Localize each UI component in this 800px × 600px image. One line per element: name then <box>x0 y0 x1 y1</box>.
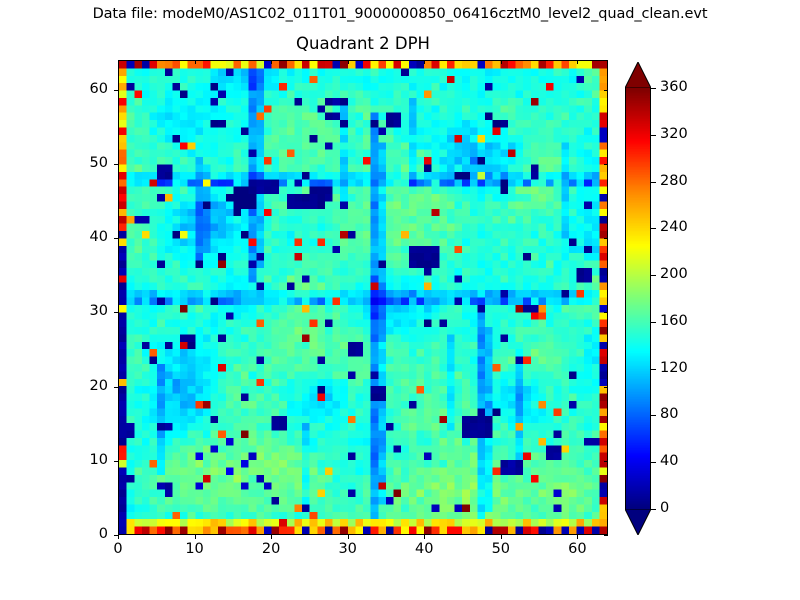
y-tick-mark-right <box>604 90 608 91</box>
y-tick-mark <box>114 312 118 313</box>
colorbar-tick-mark <box>651 369 656 370</box>
y-tick-mark-right <box>604 164 608 165</box>
x-tick-mark-top <box>348 60 349 64</box>
colorbar-tick-label: 240 <box>660 219 688 235</box>
y-tick-label: 60 <box>68 81 108 97</box>
x-tick-label: 0 <box>98 541 138 557</box>
y-tick-mark-right <box>604 387 608 388</box>
colorbar-tick-mark <box>651 228 656 229</box>
y-tick-label: 50 <box>68 155 108 171</box>
colorbar-tick-label: 320 <box>660 126 688 142</box>
x-tick-mark <box>501 535 502 539</box>
x-tick-label: 30 <box>328 541 368 557</box>
y-tick-mark <box>114 238 118 239</box>
y-tick-label: 10 <box>68 452 108 468</box>
x-tick-label: 60 <box>557 541 597 557</box>
colorbar-tick-label: 280 <box>660 173 688 189</box>
x-tick-label: 50 <box>481 541 521 557</box>
y-tick-label: 40 <box>68 229 108 245</box>
colorbar-tick-label: 160 <box>660 313 688 329</box>
y-tick-mark <box>114 164 118 165</box>
y-tick-mark-right <box>604 535 608 536</box>
x-tick-mark-top <box>271 60 272 64</box>
colorbar-tick-mark <box>651 322 656 323</box>
x-tick-mark <box>195 535 196 539</box>
y-tick-mark-right <box>604 461 608 462</box>
y-tick-label: 30 <box>68 303 108 319</box>
colorbar <box>625 62 651 535</box>
colorbar-tick-mark <box>651 135 656 136</box>
colorbar-under-arrow-icon <box>625 509 651 535</box>
colorbar-tick-mark <box>651 182 656 183</box>
x-tick-mark-top <box>118 60 119 64</box>
colorbar-tick-mark <box>651 415 656 416</box>
x-tick-mark <box>271 535 272 539</box>
colorbar-tick-mark <box>651 509 656 510</box>
y-tick-mark <box>114 535 118 536</box>
y-tick-label: 0 <box>68 526 108 542</box>
colorbar-tick-label: 0 <box>660 500 669 516</box>
x-tick-label: 20 <box>251 541 291 557</box>
x-tick-mark-top <box>195 60 196 64</box>
y-tick-mark-right <box>604 238 608 239</box>
y-tick-mark <box>114 90 118 91</box>
colorbar-tick-mark <box>651 88 656 89</box>
y-tick-mark <box>114 461 118 462</box>
x-tick-label: 10 <box>175 541 215 557</box>
x-tick-mark <box>577 535 578 539</box>
y-tick-label: 20 <box>68 378 108 394</box>
heatmap-axes <box>118 60 608 535</box>
y-tick-mark-right <box>604 312 608 313</box>
colorbar-tick-label: 360 <box>660 79 688 95</box>
heatmap-image <box>119 61 607 534</box>
colorbar-gradient <box>625 88 651 509</box>
colorbar-tick-mark <box>651 275 656 276</box>
colorbar-tick-mark <box>651 462 656 463</box>
x-tick-label: 40 <box>404 541 444 557</box>
colorbar-over-arrow-icon <box>625 62 651 88</box>
x-tick-mark <box>118 535 119 539</box>
colorbar-tick-label: 200 <box>660 266 688 282</box>
x-tick-mark-top <box>424 60 425 64</box>
x-tick-mark <box>424 535 425 539</box>
chart-title: Quadrant 2 DPH <box>118 34 608 53</box>
x-tick-mark-top <box>577 60 578 64</box>
colorbar-tick-label: 80 <box>660 406 678 422</box>
y-tick-mark <box>114 387 118 388</box>
x-tick-mark <box>348 535 349 539</box>
colorbar-tick-label: 120 <box>660 360 688 376</box>
data-file-suptitle: Data file: modeM0/AS1C02_011T01_90000008… <box>0 6 800 22</box>
x-tick-mark-top <box>501 60 502 64</box>
colorbar-tick-label: 40 <box>660 453 678 469</box>
